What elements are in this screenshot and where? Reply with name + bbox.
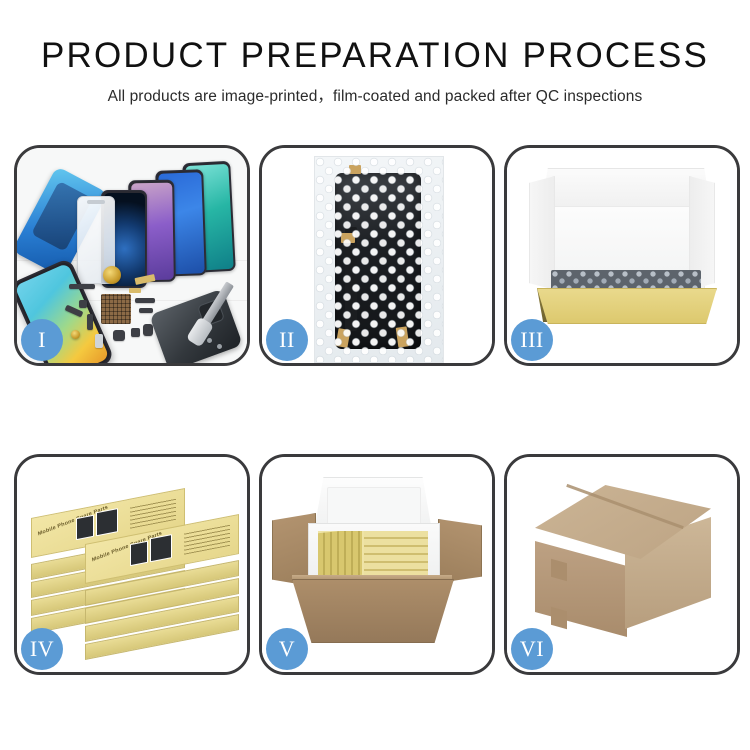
- screw-part: [207, 338, 212, 343]
- step-badge-2: II: [266, 319, 308, 361]
- step-panel-5[interactable]: V: [259, 454, 495, 675]
- step-panel-3[interactable]: III: [504, 145, 740, 366]
- box-label-window: [150, 534, 172, 562]
- step-badge-3: III: [511, 319, 553, 361]
- carton-body: [292, 579, 454, 643]
- small-part: [131, 328, 140, 337]
- screw-part: [217, 344, 222, 349]
- box-label-window: [96, 508, 118, 536]
- step-panel-1[interactable]: I: [14, 145, 250, 366]
- box-label-window: [130, 541, 148, 566]
- camera-part: [143, 324, 153, 336]
- step-badge-6: VI: [511, 628, 553, 670]
- process-step-grid: I II III: [14, 145, 736, 675]
- small-part: [135, 298, 155, 303]
- step-panel-4[interactable]: Mobile Phone Spare Parts Mobile Phone Sp…: [14, 454, 250, 675]
- small-part: [79, 300, 87, 308]
- small-part: [87, 314, 93, 330]
- bubble-wrap-bag: [314, 156, 444, 363]
- bubble-texture: [315, 157, 443, 362]
- box-label-window: [76, 515, 94, 540]
- ic-chip-grid: [101, 294, 131, 324]
- step-badge-1: I: [21, 319, 63, 361]
- page-title: PRODUCT PREPARATION PROCESS: [0, 38, 750, 75]
- step-badge-5: V: [266, 628, 308, 670]
- small-gold-part: [71, 330, 80, 339]
- step-panel-6[interactable]: VI: [504, 454, 740, 675]
- flex-cable: [129, 288, 141, 293]
- carton-right-flap: [438, 519, 482, 583]
- gold-coil-part: [103, 266, 121, 284]
- box-label-spec-lines: [130, 498, 176, 529]
- carton-tape-lower: [551, 607, 567, 630]
- speaker-part: [113, 330, 125, 341]
- page-header: PRODUCT PREPARATION PROCESS All products…: [0, 0, 750, 106]
- carton-left-face: [535, 541, 627, 637]
- box-label-spec-lines: [184, 524, 230, 555]
- step-panel-2[interactable]: II: [259, 145, 495, 366]
- mailer-box-lid: [541, 168, 711, 210]
- small-part: [139, 308, 153, 313]
- mailer-box-front-panel: [537, 288, 717, 324]
- small-part: [69, 284, 95, 289]
- sim-tray-part: [95, 334, 103, 348]
- step-badge-4: IV: [21, 628, 63, 670]
- page-subtitle: All products are image-printed，film-coat…: [0, 84, 750, 106]
- packed-retail-boxes: [318, 531, 428, 577]
